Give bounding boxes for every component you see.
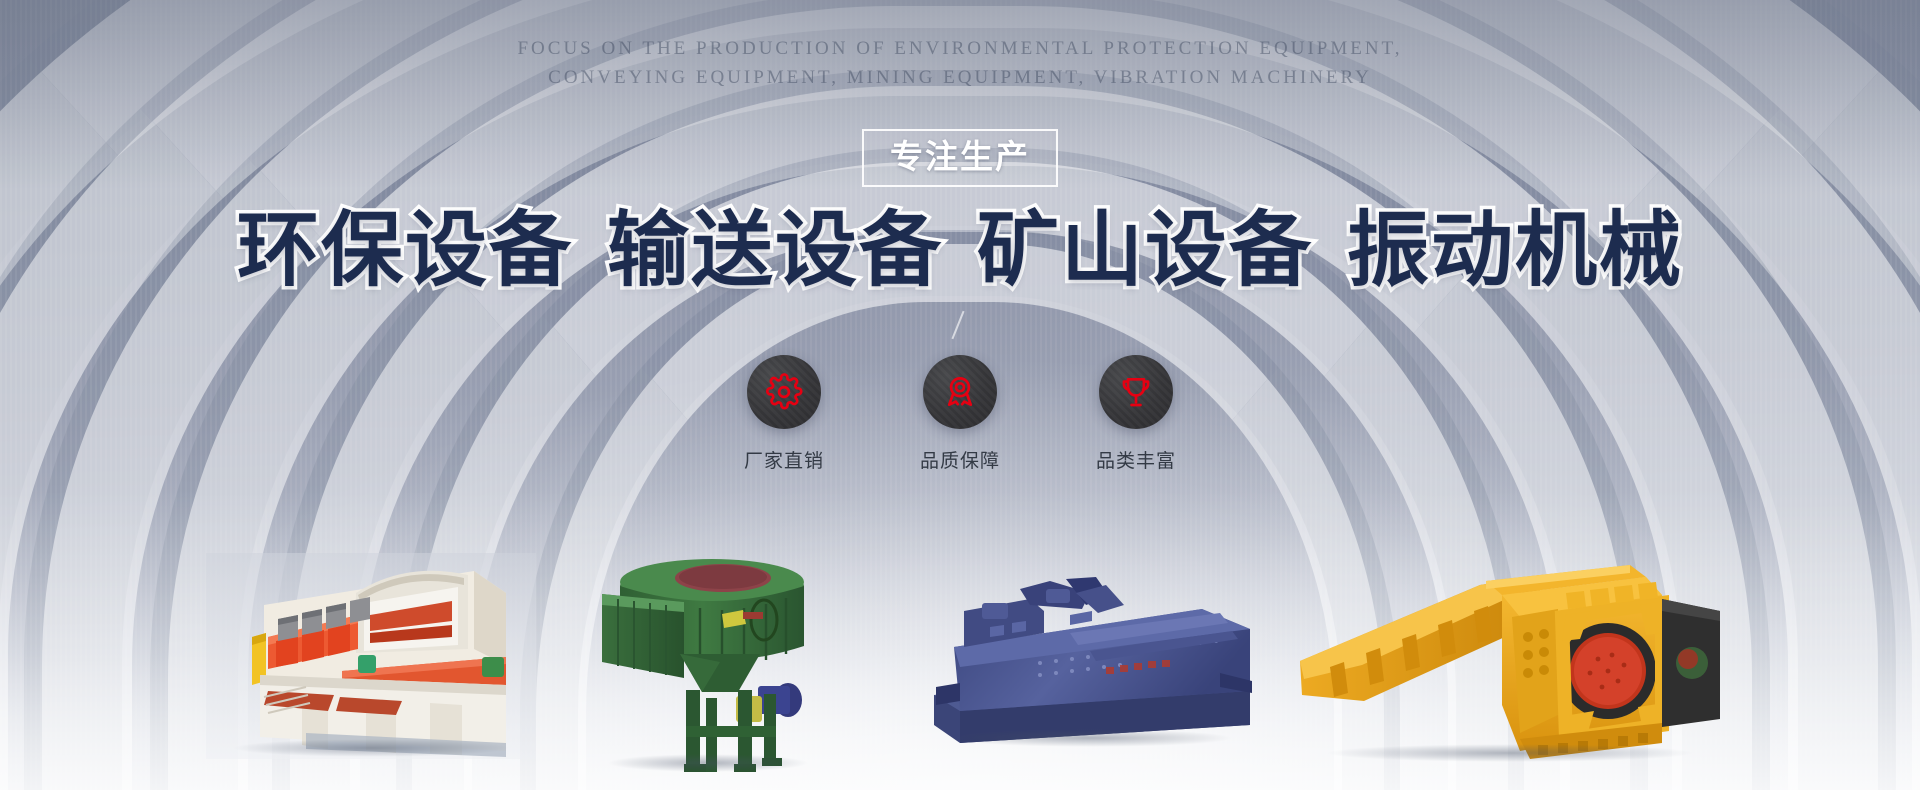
- yellow-jaw-crusher-photo: [1290, 555, 1730, 770]
- medal-icon: [923, 355, 997, 429]
- headline-part-2: 输送设备: [607, 203, 943, 298]
- gear-icon: [747, 355, 821, 429]
- eyebrow-tagline: FOCUS ON THE PRODUCTION OF ENVIRONMENTAL…: [0, 34, 1920, 92]
- page-title: 环保设备输送设备矿山设备振动机械: [0, 205, 1920, 297]
- feature-label: 厂家直销: [724, 446, 844, 473]
- headline-part-3: 矿山设备: [977, 203, 1313, 298]
- headline-part-1: 环保设备: [237, 203, 573, 298]
- blue-vibrating-screen-photo: [920, 575, 1260, 755]
- trophy-icon: [1099, 355, 1173, 429]
- green-mixer-photo: [588, 550, 828, 780]
- screening-plant-photo: [206, 545, 536, 765]
- feature-item-quality-guarantee: 品质保障: [900, 355, 1020, 473]
- feature-item-factory-direct: 厂家直销: [724, 355, 844, 473]
- decorative-slash: [951, 311, 964, 340]
- focus-badge-label: 专注生产: [890, 137, 1030, 176]
- product-photo-row: [0, 490, 1920, 790]
- focus-badge: 专注生产: [862, 129, 1058, 187]
- hero-banner: FOCUS ON THE PRODUCTION OF ENVIRONMENTAL…: [0, 0, 1920, 790]
- feature-list: 厂家直销 品质保障: [724, 355, 1196, 473]
- feature-label: 品质保障: [900, 446, 1020, 473]
- feature-item-rich-variety: 品类丰富: [1076, 355, 1196, 473]
- feature-label: 品类丰富: [1076, 446, 1196, 473]
- headline-part-4: 振动机械: [1347, 203, 1683, 298]
